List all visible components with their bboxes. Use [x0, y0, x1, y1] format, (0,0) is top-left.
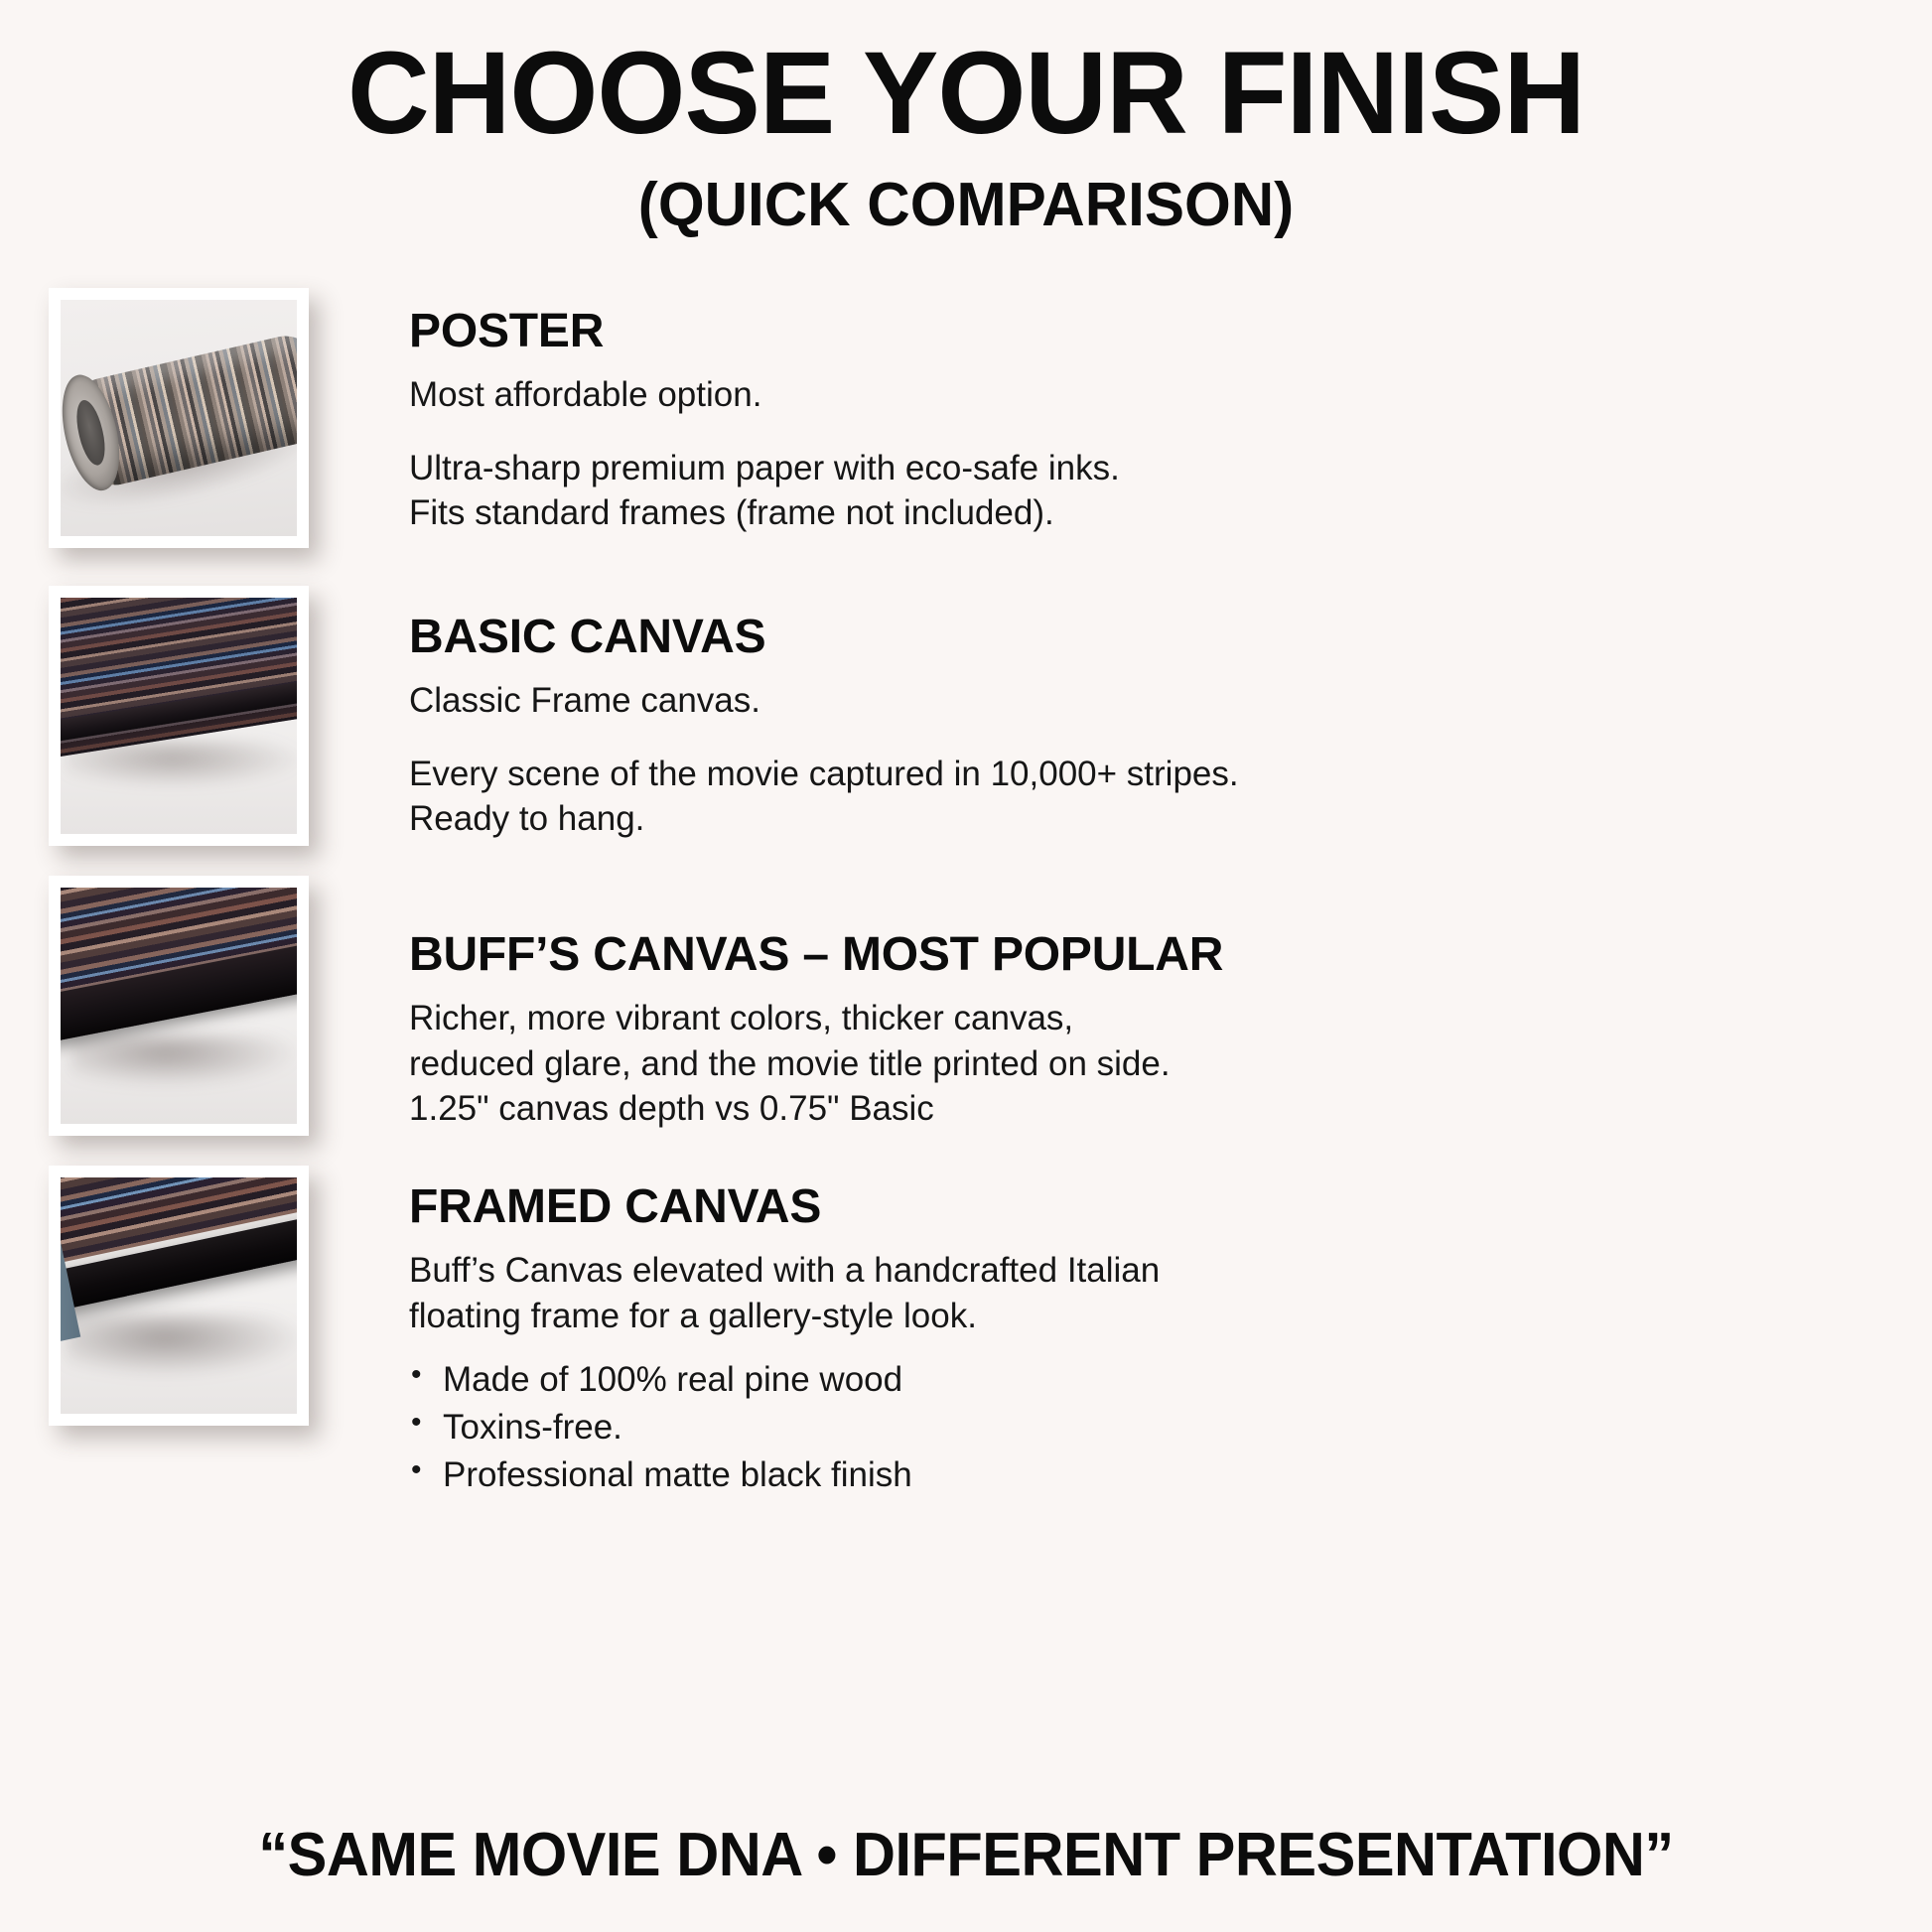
option-row-framed-canvas: FRAMED CANVAS Buff’s Canvas elevated wit…	[0, 1166, 1932, 1463]
list-item: Professional matte black finish	[409, 1451, 1892, 1499]
photo-inner	[61, 888, 297, 1124]
option-lead-poster: Most affordable option.	[409, 374, 1892, 415]
option-text-poster: POSTER Most affordable option. Ultra-sha…	[328, 288, 1932, 535]
thumbnail-wrapper-basic-canvas	[0, 586, 328, 846]
page-subtitle: (QUICK COMPARISON)	[29, 175, 1903, 236]
framed-canvas-feature-list: Made of 100% real pine wood Toxins-free.…	[409, 1356, 1892, 1498]
poster-scene	[61, 300, 297, 536]
option-body-poster: Ultra-sharp premium paper with eco-safe …	[409, 446, 1892, 536]
list-item: Toxins-free.	[409, 1404, 1892, 1451]
option-title-poster: POSTER	[409, 304, 1892, 358]
infographic-page: CHOOSE YOUR FINISH (QUICK COMPARISON)	[0, 0, 1932, 1932]
basic-canvas-scene	[61, 598, 297, 834]
option-text-buffs-canvas: BUFF’S CANVAS – MOST POPULAR Richer, mor…	[328, 876, 1932, 1132]
basic-canvas-edge-photo	[49, 586, 309, 846]
option-text-framed-canvas: FRAMED CANVAS Buff’s Canvas elevated wit…	[328, 1166, 1932, 1498]
footer-tagline: “SAME MOVIE DNA • DIFFERENT PRESENTATION…	[39, 1820, 1893, 1890]
option-title-basic-canvas: BASIC CANVAS	[409, 610, 1892, 664]
option-body-buffs-canvas: Richer, more vibrant colors, thicker can…	[409, 996, 1892, 1132]
framed-canvas-scene	[61, 1177, 297, 1414]
buffs-canvas-drop-shadow	[70, 1035, 297, 1086]
buffs-canvas-edge-photo	[49, 876, 309, 1136]
footer: “SAME MOVIE DNA • DIFFERENT PRESENTATION…	[0, 1820, 1932, 1890]
framed-canvas-drop-shadow	[66, 1314, 297, 1376]
option-lead-basic-canvas: Classic Frame canvas.	[409, 680, 1892, 721]
option-row-basic-canvas: BASIC CANVAS Classic Frame canvas. Every…	[0, 586, 1932, 876]
thumbnail-wrapper-buffs-canvas	[0, 876, 328, 1136]
framed-canvas-corner-photo	[49, 1166, 309, 1426]
header: CHOOSE YOUR FINISH (QUICK COMPARISON)	[0, 0, 1932, 236]
option-body-basic-canvas: Every scene of the movie captured in 10,…	[409, 752, 1892, 842]
basic-canvas-print-face	[61, 598, 297, 763]
photo-inner	[61, 300, 297, 536]
photo-inner	[61, 1177, 297, 1414]
photo-inner	[61, 598, 297, 834]
option-title-framed-canvas: FRAMED CANVAS	[409, 1179, 1892, 1234]
option-body-framed-canvas: Buff’s Canvas elevated with a handcrafte…	[409, 1248, 1892, 1338]
thumbnail-wrapper-poster	[0, 288, 328, 548]
buffs-canvas-scene	[61, 888, 297, 1124]
option-text-basic-canvas: BASIC CANVAS Classic Frame canvas. Every…	[328, 586, 1932, 841]
list-item: Made of 100% real pine wood	[409, 1356, 1892, 1404]
option-title-buffs-canvas: BUFF’S CANVAS – MOST POPULAR	[409, 927, 1892, 982]
option-row-poster: POSTER Most affordable option. Ultra-sha…	[0, 288, 1932, 586]
option-row-buffs-canvas: BUFF’S CANVAS – MOST POPULAR Richer, mor…	[0, 876, 1932, 1166]
rolled-poster-photo	[49, 288, 309, 548]
page-title: CHOOSE YOUR FINISH	[29, 34, 1903, 153]
options-list: POSTER Most affordable option. Ultra-sha…	[0, 288, 1932, 1463]
thumbnail-wrapper-framed-canvas	[0, 1166, 328, 1426]
